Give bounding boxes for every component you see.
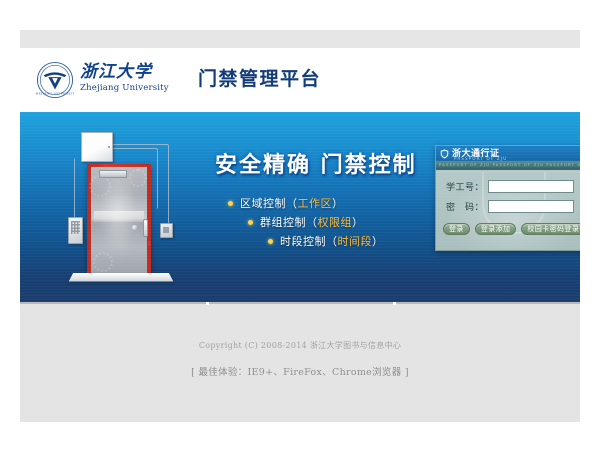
list-item: 时段控制（时间段） (268, 232, 428, 251)
login-panel: 浙大通行证 PASSPORT OF ZJU PASSPORT OF ZJU PA… (435, 145, 580, 251)
footer-divider-mark (206, 302, 209, 305)
university-logo[interactable]: ZHEJIANG UNIVERSITY 浙江大学 Zhejiang Univer… (30, 57, 180, 103)
university-name-en: Zhejiang University (80, 83, 180, 94)
login-form: 学工号： 密 码： 登录 登录添加 校园卡密码登录 (436, 170, 580, 250)
username-label: 学工号： (444, 180, 484, 193)
password-label: 密 码： (444, 200, 484, 213)
campus-card-login-button[interactable]: 校园卡密码登录 (521, 223, 580, 235)
passport-watermark-strip: PASSPORT OF ZJU PASSPORT OF ZJU PASSPORT… (436, 161, 580, 170)
feature-highlight: 权限组 (318, 213, 353, 232)
door-illustration (45, 124, 195, 299)
keypad-keys-icon (71, 221, 80, 234)
login-button-row: 登录 登录添加 校园卡密码登录 (443, 223, 580, 235)
bullet-dot-icon (228, 201, 233, 206)
card-reader (160, 223, 173, 238)
copyright-text: Copyright (C) 2008-2014 浙江大学图书与信息中心 (20, 340, 580, 351)
hero-headline: 安全精确 门禁控制 (215, 147, 417, 179)
university-name-cn: 浙江大学 (80, 62, 180, 83)
feature-tail: ） (352, 213, 364, 232)
door-closer (99, 170, 127, 178)
gear-decor-icon (93, 252, 113, 272)
page-title: 门禁管理平台 (198, 64, 321, 91)
access-controller-box (81, 132, 113, 162)
feature-highlight: 时间段 (338, 232, 373, 251)
feature-text: 群组控制（ (260, 213, 318, 232)
login-panel-titlebar: 浙大通行证 PASSPORT OF ZJU (436, 146, 580, 161)
bullet-dot-icon (248, 220, 253, 225)
feature-tail: ） (332, 194, 344, 213)
site-footer: Copyright (C) 2008-2014 浙江大学图书与信息中心 [ 最佳… (20, 302, 580, 422)
login-button[interactable]: 登录 (443, 223, 470, 235)
door-status-led-icon (148, 241, 150, 246)
zju-seal-icon: ZHEJIANG UNIVERSITY (36, 61, 74, 99)
list-item: 群组控制（权限组） (248, 213, 428, 232)
svg-text:ZHEJIANG UNIVERSITY: ZHEJIANG UNIVERSITY (36, 92, 74, 96)
feature-tail: ） (372, 232, 384, 251)
gear-decor-icon (89, 175, 111, 197)
university-name-block: 浙江大学 Zhejiang University (80, 62, 180, 100)
site-header: ZHEJIANG UNIVERSITY 浙江大学 Zhejiang Univer… (20, 48, 580, 112)
app-page: ZHEJIANG UNIVERSITY 浙江大学 Zhejiang Univer… (0, 0, 600, 450)
feature-list: 区域控制（工作区） 群组控制（权限组） 时段控制（时间段） (228, 194, 428, 251)
footer-divider-mark (393, 302, 396, 305)
feature-highlight: 工作区 (298, 194, 333, 213)
password-row: 密 码： (444, 200, 580, 213)
feature-text: 区域控制（ (240, 194, 298, 213)
list-item: 区域控制（工作区） (228, 194, 428, 213)
login-panel-title-en: PASSPORT OF ZJU (454, 156, 507, 161)
card-slot-icon (163, 227, 169, 233)
username-field[interactable] (488, 180, 574, 193)
hero-banner: 安全精确 门禁控制 区域控制（工作区） 群组控制（权限组） 时段控制（时间段） (20, 112, 580, 302)
password-field[interactable] (488, 200, 574, 213)
shield-icon (440, 149, 449, 159)
keypad-reader (68, 217, 83, 244)
gear-decor-icon (129, 169, 147, 187)
floor-slab (69, 273, 174, 281)
browser-support-text: [ 最佳体验：IE9+、FireFox、Chrome浏览器 ] (20, 364, 580, 378)
door-knob (132, 225, 137, 230)
login-add-button[interactable]: 登录添加 (475, 223, 517, 235)
access-door (87, 164, 151, 274)
door-panel (91, 167, 147, 274)
bullet-dot-icon (268, 239, 273, 244)
username-row: 学工号： (444, 180, 580, 193)
controller-indicator-icon (108, 146, 110, 148)
door-handle (143, 219, 148, 237)
feature-text: 时段控制（ (280, 232, 338, 251)
door-glass-band (94, 211, 144, 222)
